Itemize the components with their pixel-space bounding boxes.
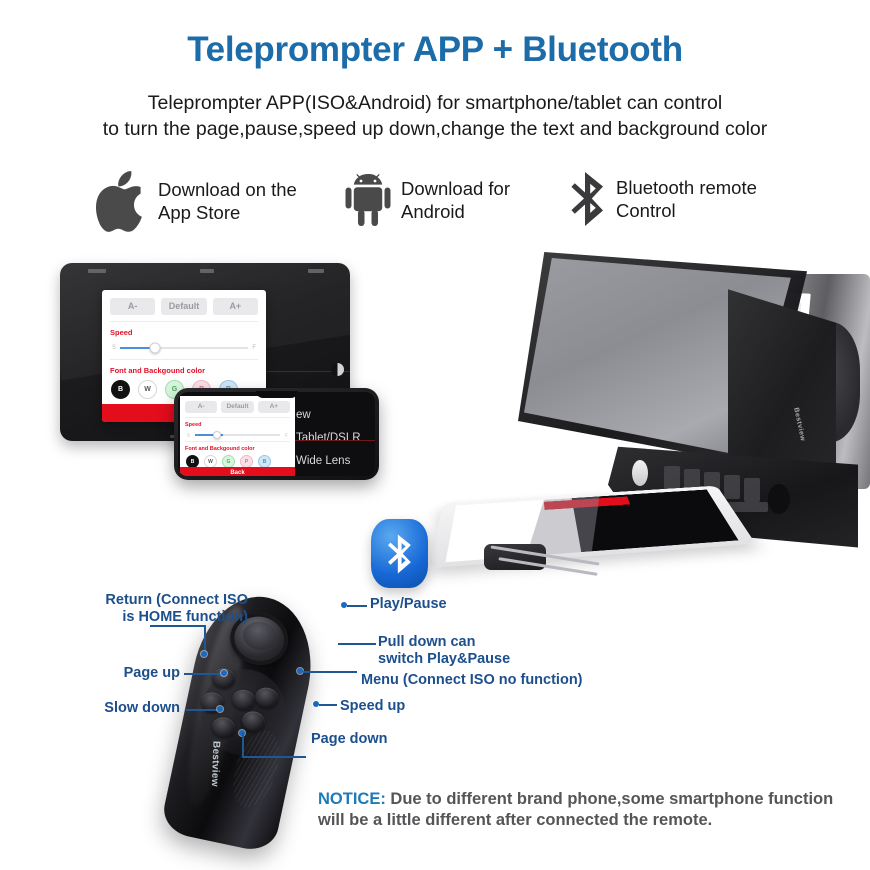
badge-bluetooth-line-1: Bluetooth remote	[616, 176, 757, 199]
back-button[interactable]: Back	[180, 467, 295, 476]
callout-play-pause: Play/Pause	[370, 596, 550, 613]
rig-mounted-tablet	[428, 486, 755, 569]
callout-dot	[217, 706, 223, 712]
font-decrease-button[interactable]: A-	[185, 401, 217, 413]
speed-label: Speed	[180, 418, 295, 429]
callout-pull-down-line-2: switch Play&Pause	[378, 651, 578, 668]
speed-label: Speed	[102, 322, 266, 339]
notice-keyword: NOTICE:	[318, 790, 386, 808]
badge-bluetooth: Bluetooth remote Control	[570, 172, 757, 226]
base-vent	[664, 466, 680, 490]
font-size-buttons: A- Default A+	[180, 396, 295, 417]
color-label: Font and Backgound color	[102, 360, 266, 377]
callout-page-up-label: Page up	[70, 665, 180, 682]
badge-bluetooth-text: Bluetooth remote Control	[616, 176, 757, 222]
status-clock	[200, 269, 214, 273]
callout-menu-label: Menu (Connect ISO no function)	[361, 672, 641, 689]
font-default-button[interactable]: Default	[161, 298, 206, 315]
leader-line	[150, 625, 205, 627]
apple-icon	[96, 170, 148, 232]
phone-divider	[290, 440, 375, 441]
font-decrease-button[interactable]: A-	[110, 298, 155, 315]
bluetooth-icon	[570, 172, 606, 226]
mount-screw	[632, 460, 648, 486]
callout-slow-down-label: Slow down	[60, 700, 180, 717]
callout-page-down: Page down	[311, 731, 471, 748]
badge-app-store-text: Download on the App Store	[158, 178, 297, 224]
callout-pull-down-line-1: Pull down can	[378, 634, 578, 651]
tablet-status-bar	[60, 269, 350, 278]
slider-thumb[interactable]	[150, 343, 161, 354]
badge-app-store-line-1: Download on the	[158, 178, 297, 201]
callout-page-down-label: Page down	[311, 731, 471, 748]
phone-text-line-3: Wide Lens	[296, 450, 361, 473]
badge-android: Download for Android	[345, 174, 510, 226]
color-label: Font and Backgound color	[180, 442, 295, 453]
callout-return-line-2: is HOME function)	[48, 609, 248, 626]
callout-play-pause-label: Play/Pause	[370, 596, 550, 613]
font-increase-button[interactable]: A+	[213, 298, 258, 315]
leader-line	[347, 605, 367, 607]
base-vent	[744, 478, 760, 502]
badge-android-line-2: Android	[401, 200, 510, 223]
speed-min-label: S	[187, 432, 190, 437]
phone-text-line-1: ew	[296, 404, 361, 427]
callout-page-up: Page up	[70, 665, 180, 682]
remote-brand-logo: Bestview	[209, 741, 222, 787]
slider-thumb[interactable]	[213, 431, 221, 439]
page-title: Teleprompter APP + Bluetooth	[0, 30, 870, 70]
speed-min-label: S	[112, 345, 116, 351]
callout-return-line-1: Return (Connect ISO	[48, 592, 248, 609]
callout-pull-down: Pull down can switch Play&Pause	[378, 634, 578, 668]
color-swatch-black[interactable]: B	[111, 380, 130, 399]
android-icon	[345, 174, 391, 226]
page-subtitle: Teleprompter APP(ISO&Android) for smartp…	[0, 90, 870, 142]
teleprompter-rig-photo: A- Default A+ Speed S F Font and Backgou…	[440, 252, 870, 597]
badge-app-store: Download on the App Store	[96, 170, 297, 232]
badge-bluetooth-line-2: Control	[616, 199, 757, 222]
color-swatch-white[interactable]: W	[138, 380, 157, 399]
leader-line	[303, 671, 357, 673]
phone-screen: ew Tablet/DSLR Wide Lens A- Default A+ S…	[178, 392, 375, 476]
phone-text-line-2: Tablet/DSLR	[296, 427, 361, 450]
badge-android-text: Download for Android	[401, 177, 510, 223]
leader-line	[204, 625, 206, 654]
leader-line	[186, 709, 220, 711]
phone-notch	[256, 391, 298, 398]
callout-return: Return (Connect ISO is HOME function)	[48, 592, 248, 626]
base-vent	[724, 475, 740, 499]
badge-android-line-1: Download for	[401, 177, 510, 200]
device-mockups: view e/Tablet/DSLR Wide Lens A- Default …	[52, 258, 397, 508]
callout-speed-up: Speed up	[340, 698, 500, 715]
speed-max-label: F	[285, 432, 288, 437]
callout-dot	[201, 651, 207, 657]
notice-block: NOTICE: Due to different brand phone,som…	[318, 789, 858, 831]
callout-dot	[221, 670, 227, 676]
leader-line	[242, 733, 244, 757]
font-default-button[interactable]: Default	[221, 401, 253, 413]
status-signal-icon	[88, 269, 106, 273]
rig-brand-label: Bestview	[792, 407, 806, 442]
base-port	[768, 484, 790, 514]
callout-slow-down: Slow down	[60, 700, 180, 717]
callout-speed-up-label: Speed up	[340, 698, 500, 715]
font-size-buttons: A- Default A+	[102, 290, 266, 321]
leader-line	[184, 673, 224, 675]
status-battery-icon	[308, 269, 324, 273]
infographic-page: Teleprompter APP + Bluetooth Teleprompte…	[0, 0, 870, 870]
phone-screen-text: ew Tablet/DSLR Wide Lens	[296, 404, 361, 473]
leader-line	[319, 704, 337, 706]
subtitle-line-2: to turn the page,pause,speed up down,cha…	[0, 116, 870, 142]
leader-line	[338, 643, 376, 645]
speed-slider[interactable]: S F	[187, 431, 288, 438]
phone-mockup: ew Tablet/DSLR Wide Lens A- Default A+ S…	[174, 388, 379, 480]
leader-line	[242, 756, 306, 758]
badge-app-store-line-2: App Store	[158, 201, 297, 224]
callout-menu: Menu (Connect ISO no function)	[361, 672, 641, 689]
app-control-panel-phone: A- Default A+ Speed S F Font and Backg	[180, 396, 295, 476]
tablet-contrast-knob	[331, 363, 344, 376]
bluetooth-badge	[371, 519, 428, 588]
subtitle-line-1: Teleprompter APP(ISO&Android) for smartp…	[0, 90, 870, 116]
speed-slider[interactable]: S F	[112, 343, 256, 353]
bluetooth-glyph-icon	[387, 533, 413, 575]
font-increase-button[interactable]: A+	[258, 401, 290, 413]
notice-text: Due to different brand phone,some smartp…	[318, 790, 833, 829]
download-badges: Download on the App Store Download for	[0, 168, 870, 238]
speed-max-label: F	[252, 345, 256, 351]
